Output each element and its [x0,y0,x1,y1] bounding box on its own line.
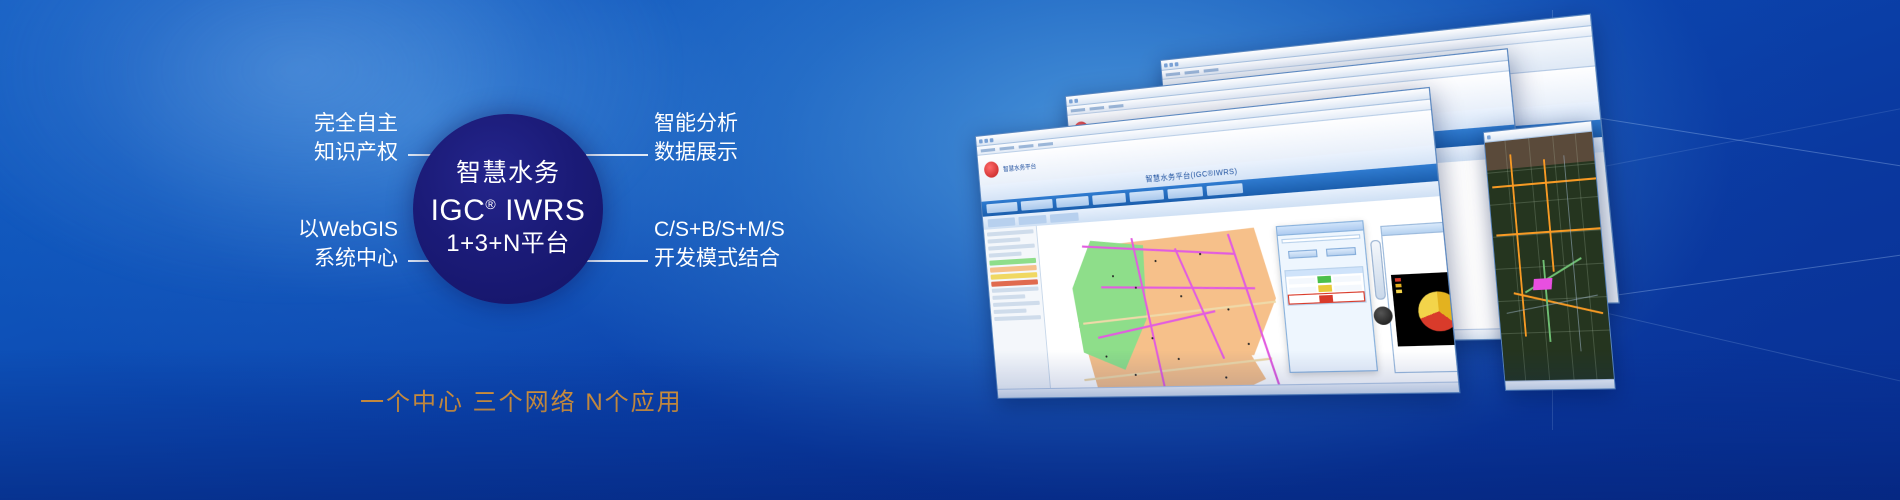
subnav-tab[interactable] [1018,214,1046,224]
query-dialog-confirm-button[interactable] [1288,249,1318,259]
window-icon [1069,99,1073,103]
label-bottom-right: C/S+B/S+M/S 开发模式结合 [654,216,785,274]
label-top-left: 完全自主 知识产权 [260,110,398,168]
menu-item[interactable] [981,148,996,152]
menu-item[interactable] [1166,72,1181,76]
front-window[interactable]: 智慧水务平台 智慧水务平台(IGC®IWRS) [975,87,1461,399]
layer-item[interactable] [987,229,1034,236]
layer-item[interactable] [992,294,1025,300]
layer-item[interactable] [992,286,1039,292]
map-node [1151,337,1153,339]
connector-top-right [586,154,648,156]
badge-title: 智慧水务 [456,159,560,189]
label-top-left-line1: 完全自主 [260,110,398,139]
nav-tab[interactable] [1129,190,1164,202]
query-dialog-cancel-button[interactable] [1326,247,1356,257]
gis-body [984,196,1458,389]
label-top-right: 智能分析 数据展示 [654,110,738,168]
map-node [1199,253,1201,255]
label-top-left-line2: 知识产权 [260,139,398,168]
pie-legend-yellow [1395,284,1401,288]
window-icon [1487,135,1491,139]
tagline: 一个中心 三个网络 N个应用 [360,382,683,417]
map-node [1180,295,1182,297]
map-node [1135,374,1137,376]
layer-item[interactable] [987,237,1020,243]
menu-item[interactable] [1038,142,1053,147]
nav-tab[interactable] [1056,196,1089,208]
map-node [1154,260,1156,262]
satellite-window-statusbar [1505,379,1614,390]
map-gridline [1505,141,1527,381]
map-road-minor [1507,294,1598,314]
badge-igc: IGC [431,194,486,227]
menu-item[interactable] [1071,108,1086,112]
badge-platform: 1+3+N平台 [446,230,570,258]
menu-item[interactable] [1204,68,1219,73]
pie-legend-red [1395,278,1401,282]
badge-product-name: IGC® IWRS [431,193,586,228]
save-icon [984,138,988,142]
menu-item[interactable] [1184,70,1199,75]
status-cell-green [1317,276,1331,283]
status-cell-red [1319,294,1333,301]
pie-legend-lightyellow [1396,290,1402,294]
nav-tab[interactable] [986,202,1018,214]
badge-iwrs: IWRS [505,194,585,227]
map-gridline [1528,138,1550,380]
label-bottom-right-line2: 开发模式结合 [654,245,785,274]
map-node [1178,358,1180,360]
connector-bottom-right [586,260,648,262]
label-bottom-left-line2: 系统中心 [240,245,398,274]
legend-swatch-red [991,279,1038,287]
brand-label: 智慧水务平台 [1003,161,1037,173]
registered-trademark-icon: ® [485,196,496,212]
print-icon [990,138,994,142]
menu-item[interactable] [1109,104,1124,109]
nav-tab[interactable] [1021,199,1053,211]
layer-item[interactable] [989,252,1022,258]
nav-tab[interactable] [1167,186,1203,198]
undo-icon [1175,62,1179,66]
map-node [1227,308,1229,310]
banner-stage: 完全自主 知识产权 以WebGIS 系统中心 智能分析 数据展示 C/S+B/S… [0,0,1900,500]
subnav-tab[interactable] [1050,212,1079,222]
layer-item[interactable] [994,315,1041,321]
label-top-right-line1: 智能分析 [654,110,738,139]
gis-map-canvas[interactable] [1037,196,1458,388]
pie-chart-container [1391,271,1458,347]
infographic: 完全自主 知识产权 以WebGIS 系统中心 智能分析 数据展示 C/S+B/S… [268,108,788,318]
map-node [1112,275,1114,277]
satellite-map-canvas[interactable] [1485,132,1614,381]
save-icon [1169,62,1173,66]
menu-item[interactable] [999,146,1014,151]
map-road-vertical [1543,159,1555,272]
nav-tab[interactable] [1206,183,1243,196]
map-gridline [1552,136,1574,380]
window-icon [979,139,983,143]
label-bottom-right-line1: C/S+B/S+M/S [654,216,785,245]
map-node [1225,376,1227,378]
status-cell-yellow [1318,285,1332,292]
layer-item[interactable] [993,301,1040,307]
floor-shading [0,350,1900,500]
map-selection-highlight [1533,278,1552,290]
map-node [1135,287,1137,289]
layer-item[interactable] [988,243,1035,250]
map-node [1248,343,1250,345]
query-dialog[interactable] [1276,220,1378,373]
label-bottom-left: 以WebGIS 系统中心 [240,216,398,274]
save-icon [1074,98,1078,102]
menu-item[interactable] [1089,106,1104,111]
center-circle-badge: 智慧水务 IGC® IWRS 1+3+N平台 [413,114,603,304]
map-gridline [1575,133,1598,379]
subnav-tab[interactable] [988,217,1016,227]
company-logo-icon [984,161,1000,178]
window-icon [1164,63,1168,67]
layer-item[interactable] [994,309,1027,314]
map-node [1105,355,1107,357]
label-top-right-line2: 数据展示 [654,139,738,168]
label-bottom-left-line1: 以WebGIS [240,216,398,245]
nav-tab[interactable] [1092,193,1126,205]
menu-item[interactable] [1019,144,1034,149]
